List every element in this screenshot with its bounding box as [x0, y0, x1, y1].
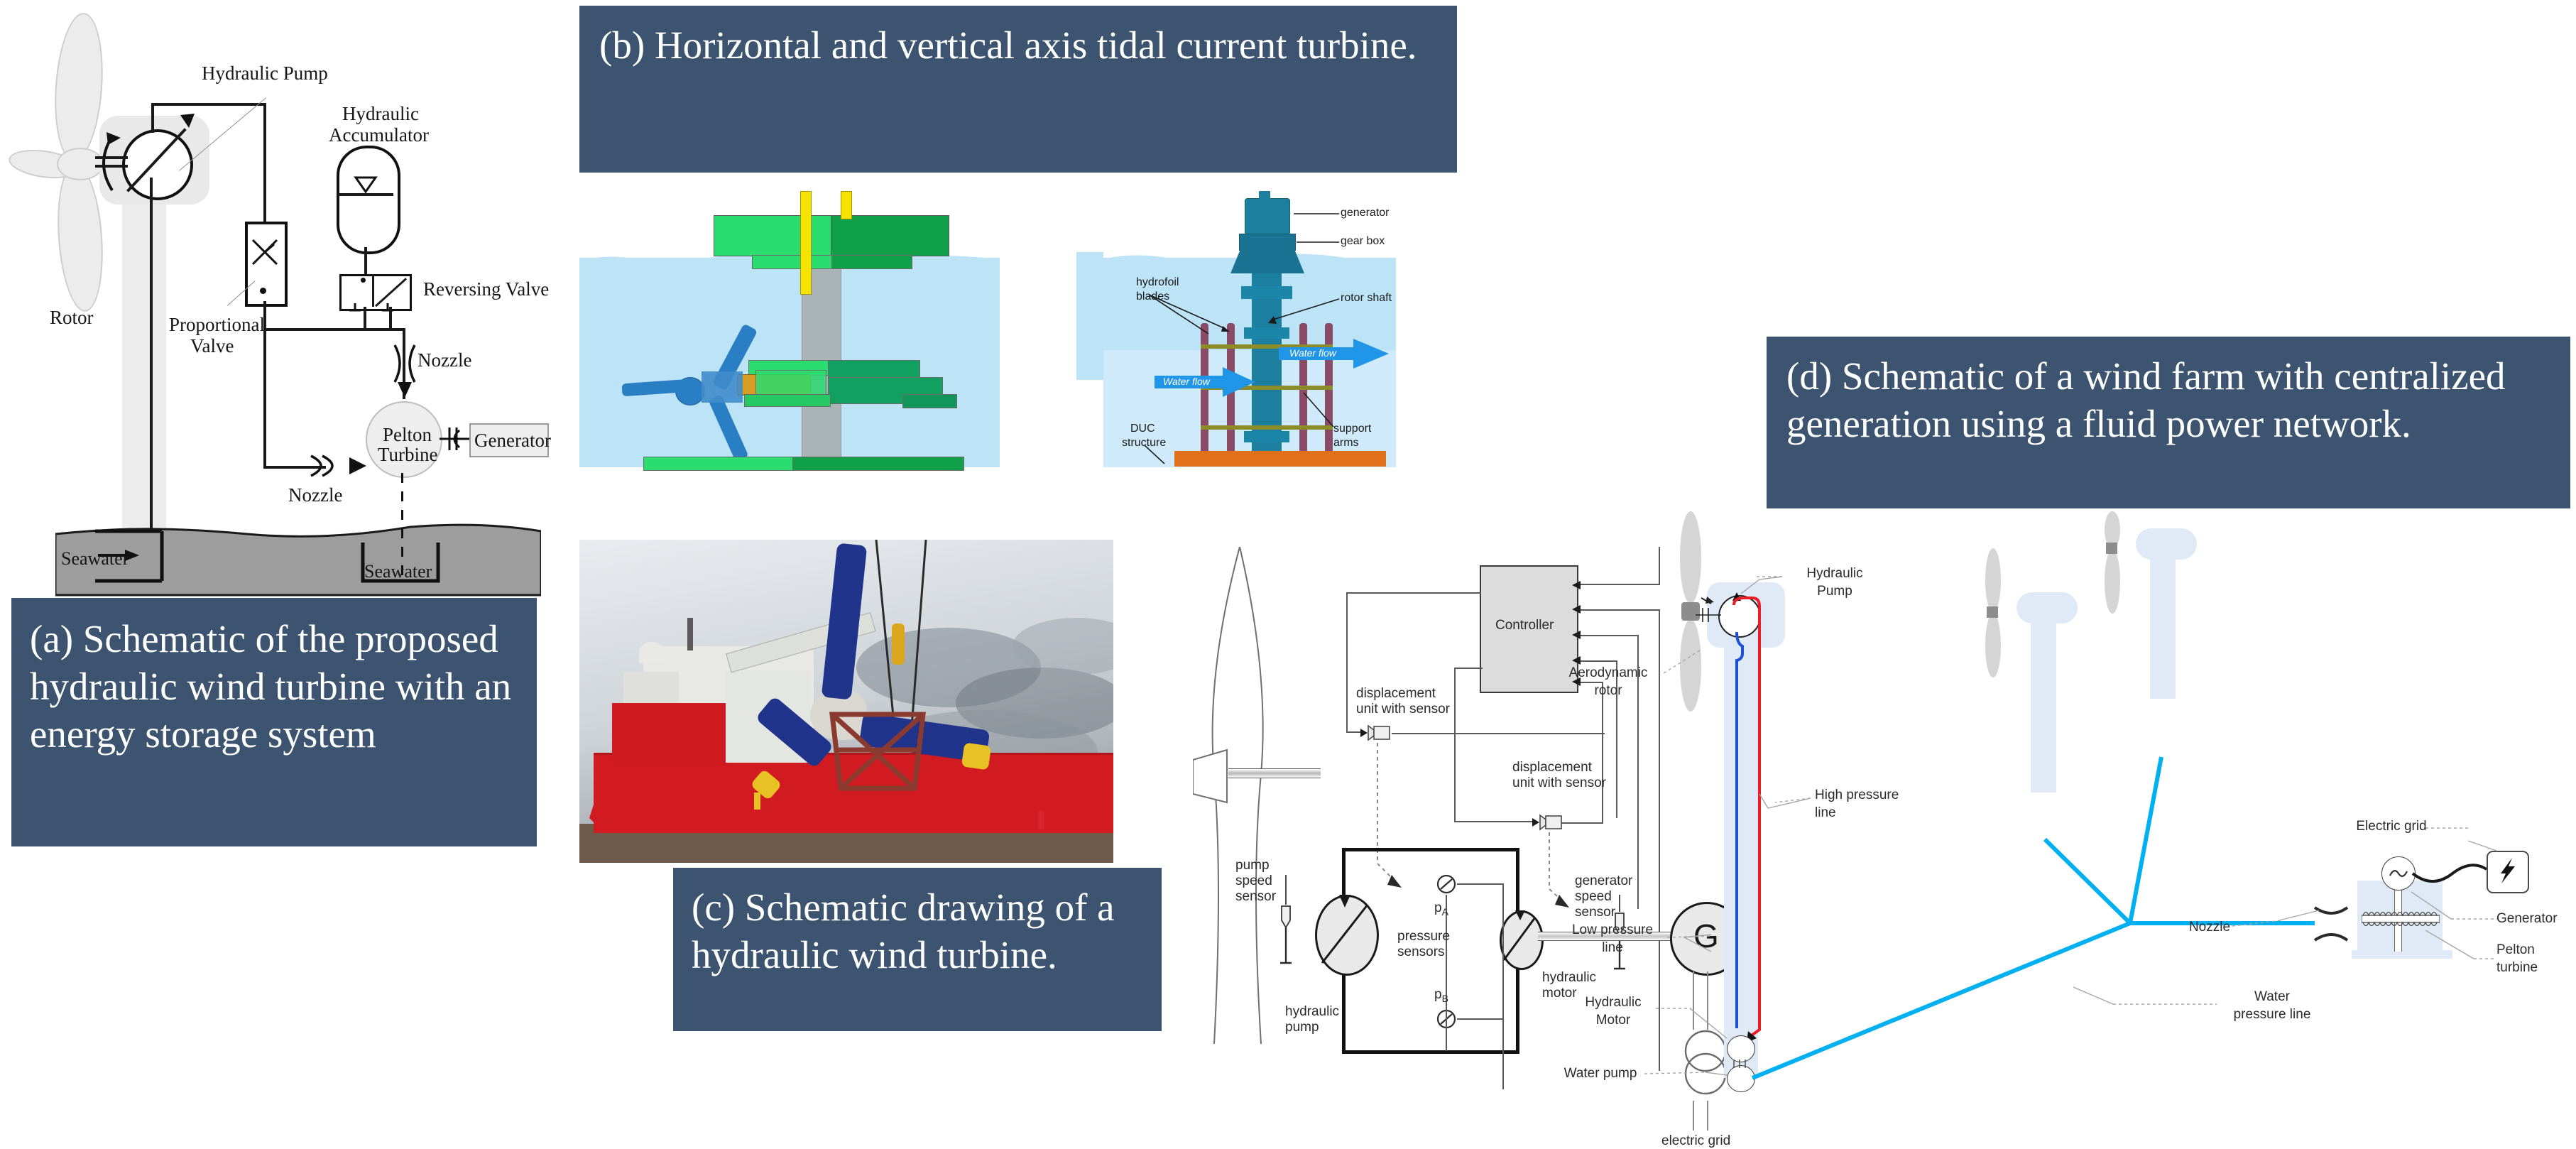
- label-pA: pA: [1434, 900, 1448, 917]
- turbine-blade-tip-right: [961, 743, 991, 770]
- seabed-plate-left-dark: [792, 457, 964, 471]
- label-rotor-shaft-b: rotor shaft: [1341, 292, 1392, 305]
- label-electric-grid-d: Electric grid: [2349, 818, 2434, 836]
- label-nozzle-lower: Nozzle: [288, 484, 342, 506]
- pelton-generator-coupling-icon: [438, 423, 471, 454]
- label-hyd-motor-d: Hydraulic Motor: [1568, 994, 1659, 1029]
- nozzle-vertical-icon: [389, 342, 420, 399]
- pipe-pump-top: [151, 103, 266, 106]
- label-generator-d: Generator: [2496, 910, 2575, 928]
- label-proportional-valve-line1: Proportional: [169, 314, 265, 336]
- pressure-sensor-a-icon: [1436, 873, 1457, 895]
- rotor-shaft: [95, 156, 128, 159]
- label-displacement-1-line1: displacement: [1356, 686, 1436, 702]
- label-generator: Generator: [474, 430, 551, 452]
- label-pelton-d-line2: turbine: [2496, 960, 2538, 975]
- panel-d-schematic: Hydraulic Pump Aerodynamic rotor High pr…: [1477, 511, 2576, 1093]
- label-nozzle-upper: Nozzle: [417, 349, 471, 371]
- label-hyd-pump-d: Hydraulic Pump: [1785, 565, 1884, 600]
- nozzle-horizontal-icon: [308, 449, 369, 481]
- label-reversing-valve: Reversing Valve: [423, 278, 549, 300]
- rotor-blade-schematic-c: [1193, 547, 1285, 1044]
- label-support-line1: support: [1333, 423, 1371, 435]
- wire-ctrl-mid-out-v: [1454, 668, 1456, 822]
- label-high-pressure-line2: line: [1815, 805, 1836, 820]
- reversing-valve-dot: [361, 278, 366, 283]
- label-water-pressure-line1: Water: [2254, 989, 2290, 1004]
- pump-speed-sensor-icon: [1278, 875, 1294, 967]
- pipe-accumulator-down: [364, 247, 367, 276]
- accumulator-gas-triangle-icon: [353, 176, 378, 193]
- pipe-rv-left-down: [364, 307, 366, 330]
- label-aerodynamic-rotor-d: Aerodynamic rotor: [1548, 665, 1669, 699]
- label-hyd-motor-d-line1: Hydraulic: [1585, 995, 1641, 1010]
- displacement-unit-1-icon: [1360, 721, 1397, 744]
- pump-flow-arrow-icon: [158, 112, 197, 152]
- label-low-pressure-line1: Low pressure: [1572, 922, 1653, 937]
- deck-skirt-left: [752, 255, 833, 269]
- rotor-shaft-2: [95, 165, 128, 168]
- label-electric-grid-c: electric grid: [1661, 1133, 1730, 1149]
- grid-bus-lines-lower: [1688, 1101, 1721, 1131]
- label-pB-sub: B: [1442, 993, 1448, 1004]
- label-pressure-sensors-line1: pressure: [1397, 929, 1450, 944]
- rotor-rotation-arrow-icon: [91, 129, 126, 197]
- label-water-pump-d: Water pump: [1556, 1065, 1644, 1083]
- label-hyd-pump-d-line2: Pump: [1817, 584, 1852, 599]
- panel-b-illustration: Water flow Water flow generator gear box…: [579, 181, 1396, 504]
- label-duc-line2: structure: [1122, 437, 1166, 450]
- label-generator-b: generator: [1341, 207, 1390, 219]
- pump-symbol-glyph-c: [1315, 895, 1375, 971]
- label-displacement-1-line2: unit with sensor: [1356, 702, 1450, 717]
- label-pelton-line1: Pelton: [383, 424, 432, 446]
- label-seawater-outlet: Seawater: [364, 561, 432, 582]
- pipe-lowbus: [263, 328, 405, 331]
- label-hyd-motor-d-line2: Motor: [1596, 1013, 1631, 1028]
- photo-worker-2: [1038, 811, 1044, 829]
- pipe-pump-top-riser: [151, 103, 154, 133]
- caption-panel-c: (c) Schematic drawing of a hydraulic win…: [673, 868, 1162, 1031]
- deck-skirt-right: [831, 255, 912, 269]
- label-pump-speed-line2: speed: [1235, 873, 1272, 889]
- label-high-pressure-line1: High pressure: [1815, 788, 1899, 802]
- vessel-red-band: [612, 703, 733, 766]
- label-pA-sub: A: [1442, 906, 1448, 917]
- panel-a-schematic: Hydraulic Pump Hydraulic Accumulator Rev…: [0, 0, 561, 597]
- label-pB: pB: [1434, 987, 1448, 1004]
- label-hydraulic-accumulator-line1: Hydraulic: [342, 103, 419, 125]
- label-nozzle-d: Nozzle: [2184, 919, 2235, 937]
- label-support-line2: arms: [1333, 437, 1359, 450]
- seabed-plate-left-light: [643, 457, 794, 471]
- platform-lower-right-2: [902, 394, 957, 408]
- photo-worker-1: [754, 793, 760, 810]
- label-hyd-pump-d-line1: Hydraulic: [1806, 566, 1862, 581]
- label-pelton-d-line1: Pelton: [2496, 942, 2535, 957]
- caption-panel-a: (a) Schematic of the proposed hydraulic …: [11, 598, 537, 846]
- label-high-pressure-d: High pressure line: [1815, 787, 1943, 822]
- pipe-to-valve: [263, 103, 266, 227]
- valve-node-dot: [260, 288, 266, 294]
- label-seawater-intake: Seawater: [61, 548, 129, 570]
- label-gear-box-b: gear box: [1341, 235, 1385, 248]
- platform-mid-right: [828, 360, 920, 379]
- deck-top-right-dark: [831, 215, 949, 256]
- caption-panel-c-text: (c) Schematic drawing of a hydraulic win…: [692, 883, 1143, 979]
- tidal-blade-root: [702, 371, 743, 403]
- pipe-rv-right-down: [389, 307, 392, 330]
- label-duc-line1: DUC: [1130, 423, 1155, 435]
- vessel-radome: [639, 642, 665, 663]
- accumulator-divider: [338, 193, 393, 196]
- label-pelton-line2: Turbine: [378, 444, 438, 466]
- wire-ctrl-left-out-v: [1346, 592, 1348, 733]
- wire-ctrl-left-out-top: [1346, 592, 1481, 594]
- wire-pa-stem: [1446, 895, 1447, 1051]
- label-pump-speed-line1: pump: [1235, 858, 1270, 873]
- vessel-radar-mast: [687, 618, 693, 650]
- displacement-1-dashed-link: [1373, 743, 1407, 896]
- yellow-mast-left: [800, 191, 812, 295]
- label-pelton-turbine-d: Pelton turbine: [2496, 942, 2575, 976]
- label-aero-rotor-line1: Aerodynamic: [1569, 665, 1648, 680]
- label-proportional-valve-line2: Valve: [190, 335, 234, 357]
- tower: [122, 205, 166, 528]
- label-pressure-sensors-line2: sensors: [1397, 944, 1445, 960]
- label-pA-base: p: [1434, 900, 1442, 915]
- label-water-pressure-line2: pressure line: [2234, 1007, 2311, 1022]
- label-low-pressure-line2: line: [1602, 940, 1623, 955]
- platform-lower-left: [744, 394, 831, 407]
- label-hydraulic-accumulator-line2: Accumulator: [329, 124, 429, 146]
- hydraulic-accumulator-symbol: [337, 146, 400, 254]
- label-hydrofoil-line2: blades: [1136, 290, 1169, 303]
- caption-panel-d-text: (d) Schematic of a wind farm with centra…: [1786, 352, 2550, 447]
- proportional-valve-glyph-icon: [250, 234, 280, 270]
- label-pump-speed-line3: sensor: [1235, 889, 1276, 905]
- label-rotor: Rotor: [50, 307, 94, 329]
- label-aero-rotor-line2: rotor: [1594, 683, 1622, 698]
- caption-panel-d: (d) Schematic of a wind farm with centra…: [1767, 337, 2570, 508]
- label-hydraulic-pump: Hydraulic Pump: [202, 62, 328, 85]
- turbine-support-frame: [825, 710, 930, 795]
- deck-top-left-light: [714, 215, 832, 256]
- label-hyd-pump-c-line2: pump: [1285, 1020, 1319, 1035]
- label-water-pressure-line-d: Water pressure line: [2218, 989, 2326, 1023]
- water-column-right-strip: [1076, 252, 1103, 380]
- label-hydrofoil-line1: hydrofoil: [1136, 276, 1179, 289]
- panel-c-photo: [579, 540, 1113, 863]
- caption-panel-b: (b) Horizontal and vertical axis tidal c…: [579, 6, 1457, 173]
- reversing-valve-ports-icon: [345, 302, 406, 315]
- label-low-pressure-d: Low pressure line: [1559, 922, 1666, 957]
- label-hyd-pump-c-line1: hydraulic: [1285, 1004, 1339, 1020]
- yellow-mast-right: [841, 191, 852, 219]
- rotor-shaft-c: [1228, 768, 1321, 778]
- label-pB-base: p: [1434, 987, 1442, 1002]
